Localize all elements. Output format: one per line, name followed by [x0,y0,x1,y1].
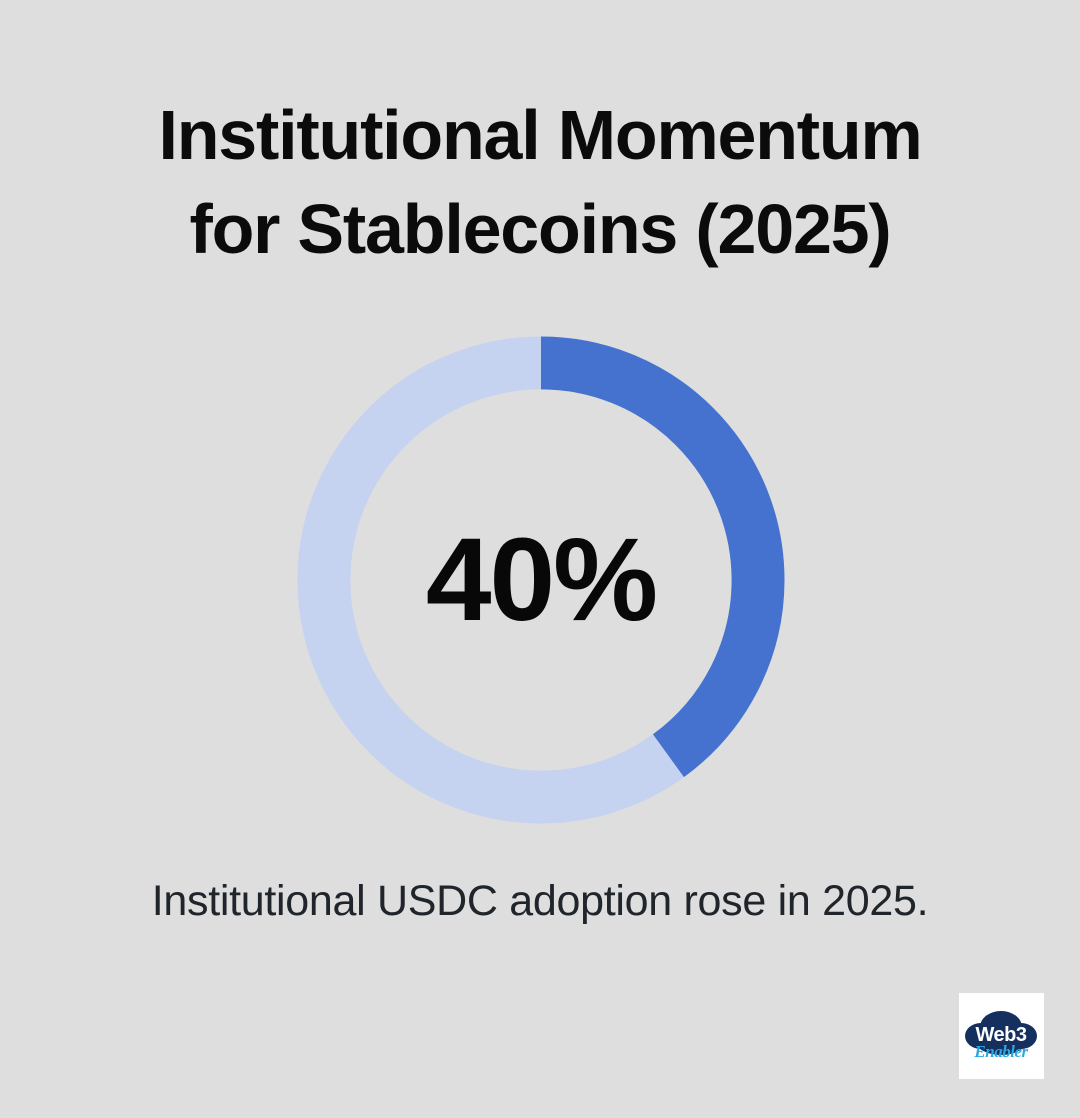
brand-logo: Web3 Enabler [959,993,1044,1079]
page-title: Institutional Momentum for Stablecoins (… [0,88,1080,276]
cloud-icon: Web3 Enabler [959,993,1044,1079]
title-line-2: for Stablecoins (2025) [40,182,1040,276]
title-line-1: Institutional Momentum [40,88,1040,182]
logo-script-text: Enabler [973,1042,1028,1061]
chart-caption: Institutional USDC adoption rose in 2025… [0,872,1080,930]
donut-chart: 40% [297,336,785,824]
donut-chart-svg [297,336,785,824]
infographic-canvas: Institutional Momentum for Stablecoins (… [0,0,1080,1118]
